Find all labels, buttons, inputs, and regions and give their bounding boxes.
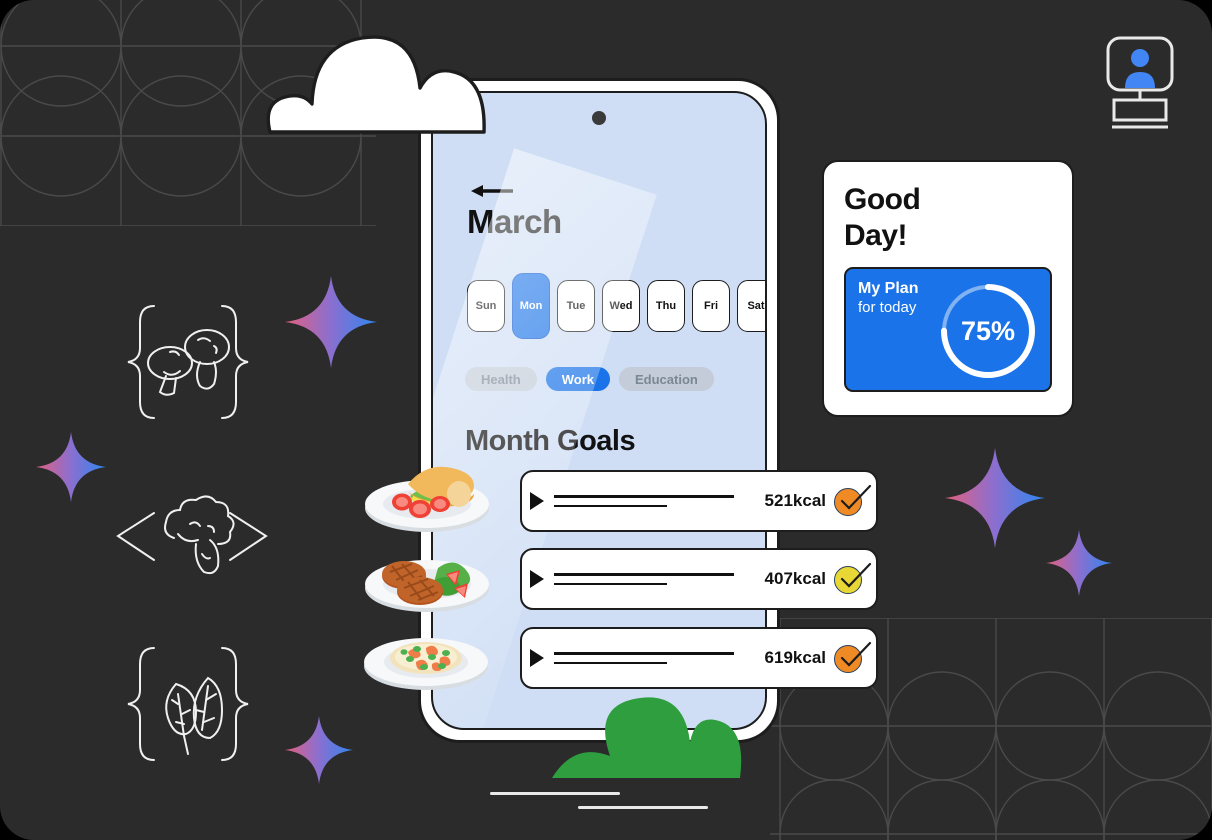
goal-row[interactable]: 407kcal (520, 548, 878, 610)
user-monitor-icon[interactable] (1104, 36, 1176, 132)
check-badge-icon[interactable] (834, 643, 864, 673)
decorative-line (578, 806, 708, 809)
mushrooms-icon (120, 300, 256, 425)
goal-calories: 521kcal (765, 491, 826, 511)
illustration-canvas: March Sun Mon Tue Wed Thu Fri Sat Health… (0, 0, 1212, 840)
greeting-line-1: Good (844, 182, 1052, 218)
food-plate-shrimp-pasta (360, 614, 492, 692)
greeting-line-2: Day! (844, 218, 1052, 254)
sparkle-star (285, 276, 377, 368)
day-pill-fri[interactable]: Fri (692, 280, 730, 332)
my-plan-panel[interactable]: My Plan for today 75% (844, 267, 1052, 392)
goal-text-placeholder (552, 495, 757, 507)
day-pill-mon[interactable]: Mon (512, 273, 550, 339)
sparkle-star (36, 432, 106, 502)
sparkle-star (285, 716, 353, 784)
goal-row[interactable]: 521kcal (520, 470, 878, 532)
sparkle-star (1046, 530, 1112, 596)
page-title: March (467, 203, 562, 241)
day-pill-thu[interactable]: Thu (647, 280, 685, 332)
goal-calories: 619kcal (765, 648, 826, 668)
goal-calories: 407kcal (765, 569, 826, 589)
good-day-card: Good Day! My Plan for today 75% (822, 160, 1074, 417)
day-pill-sat[interactable]: Sat (737, 280, 767, 332)
day-pill-tue[interactable]: Tue (557, 280, 595, 332)
day-pill-sun[interactable]: Sun (467, 280, 505, 332)
camera-dot (592, 111, 606, 125)
day-selector[interactable]: Sun Mon Tue Wed Thu Fri Sat (467, 273, 767, 339)
back-arrow-icon[interactable] (469, 183, 515, 199)
check-badge-icon[interactable] (834, 486, 864, 516)
cloud-shape (264, 28, 490, 140)
play-triangle-icon (530, 649, 544, 667)
card-greeting: Good Day! (844, 182, 1052, 254)
spinach-leaves-icon (120, 642, 256, 770)
broccoli-icon (112, 486, 272, 586)
goal-row[interactable]: 619kcal (520, 627, 878, 689)
goal-text-placeholder (552, 573, 757, 585)
play-triangle-icon (530, 492, 544, 510)
chip-education[interactable]: Education (619, 367, 714, 391)
play-triangle-icon (530, 570, 544, 588)
check-badge-icon[interactable] (834, 564, 864, 594)
chip-health[interactable]: Health (465, 367, 537, 391)
goal-text-placeholder (552, 652, 757, 664)
day-pill-wed[interactable]: Wed (602, 280, 640, 332)
food-plate-steak (362, 534, 492, 614)
progress-value: 75% (934, 277, 1042, 385)
decorative-line (490, 792, 620, 795)
sparkle-star (945, 448, 1045, 548)
food-plate-sandwich (362, 452, 492, 534)
category-chip-group[interactable]: Health Work Education (465, 367, 714, 391)
bush-shape (548, 690, 744, 785)
chip-work[interactable]: Work (546, 367, 610, 391)
